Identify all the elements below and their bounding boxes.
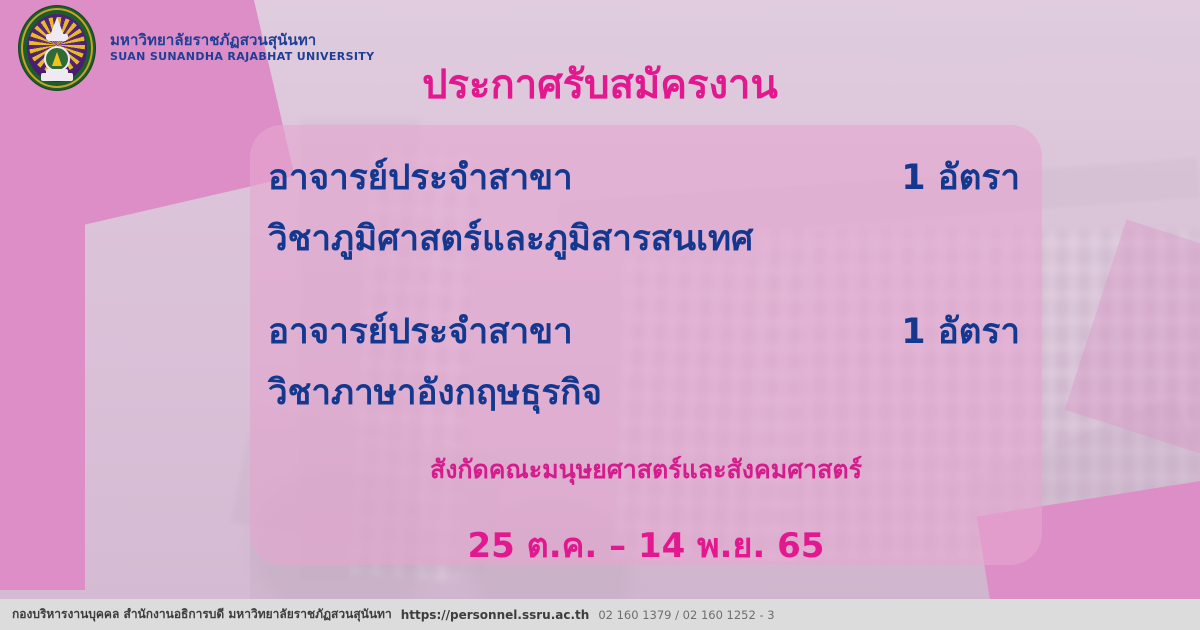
footer-office-name: กองบริหารงานบุคคล สำนักงานอธิการบดี มหาว… <box>12 605 392 624</box>
position-count: 1 อัตรา <box>901 150 1020 205</box>
position-item: อาจารย์ประจำสาขา 1 อัตรา วิชาภาษาอังกฤษธ… <box>268 304 1020 420</box>
position-header-row: อาจารย์ประจำสาขา 1 อัตรา <box>268 150 1020 205</box>
poster-footer: กองบริหารงานบุคคล สำนักงานอธิการบดี มหาว… <box>0 599 1200 630</box>
seal-crown-tier <box>46 34 68 40</box>
position-subject: วิชาภาษาอังกฤษธุรกิจ <box>268 365 1020 420</box>
footer-website-link[interactable]: https://personnel.ssru.ac.th <box>401 608 590 622</box>
position-title: อาจารย์ประจำสาขา <box>268 150 573 205</box>
application-date-range: 25 ต.ค. – 14 พ.ย. 65 <box>250 518 1042 572</box>
position-item: อาจารย์ประจำสาขา 1 อัตรา วิชาภูมิศาสตร์แ… <box>268 150 1020 266</box>
university-name-thai: มหาวิทยาลัยราชภัฏสวนสุนันทา <box>110 32 374 50</box>
faculty-affiliation: สังกัดคณะมนุษยศาสตร์และสังคมศาสตร์ <box>250 450 1042 490</box>
page-title: ประกาศรับสมัครงาน <box>0 52 1200 116</box>
position-list: อาจารย์ประจำสาขา 1 อัตรา วิชาภูมิศาสตร์แ… <box>268 150 1020 420</box>
pink-shape-left-column <box>0 110 85 590</box>
position-header-row: อาจารย์ประจำสาขา 1 อัตรา <box>268 304 1020 359</box>
position-count: 1 อัตรา <box>901 304 1020 359</box>
position-title: อาจารย์ประจำสาขา <box>268 304 573 359</box>
recruitment-poster: มหาวิทยาลัยราชภัฏสวนสุนันทา SUAN SUNANDH… <box>0 0 1200 630</box>
footer-phone-number: 02 160 1379 / 02 160 1252 - 3 <box>598 608 774 622</box>
position-subject: วิชาภูมิศาสตร์และภูมิสารสนเทศ <box>268 211 1020 266</box>
